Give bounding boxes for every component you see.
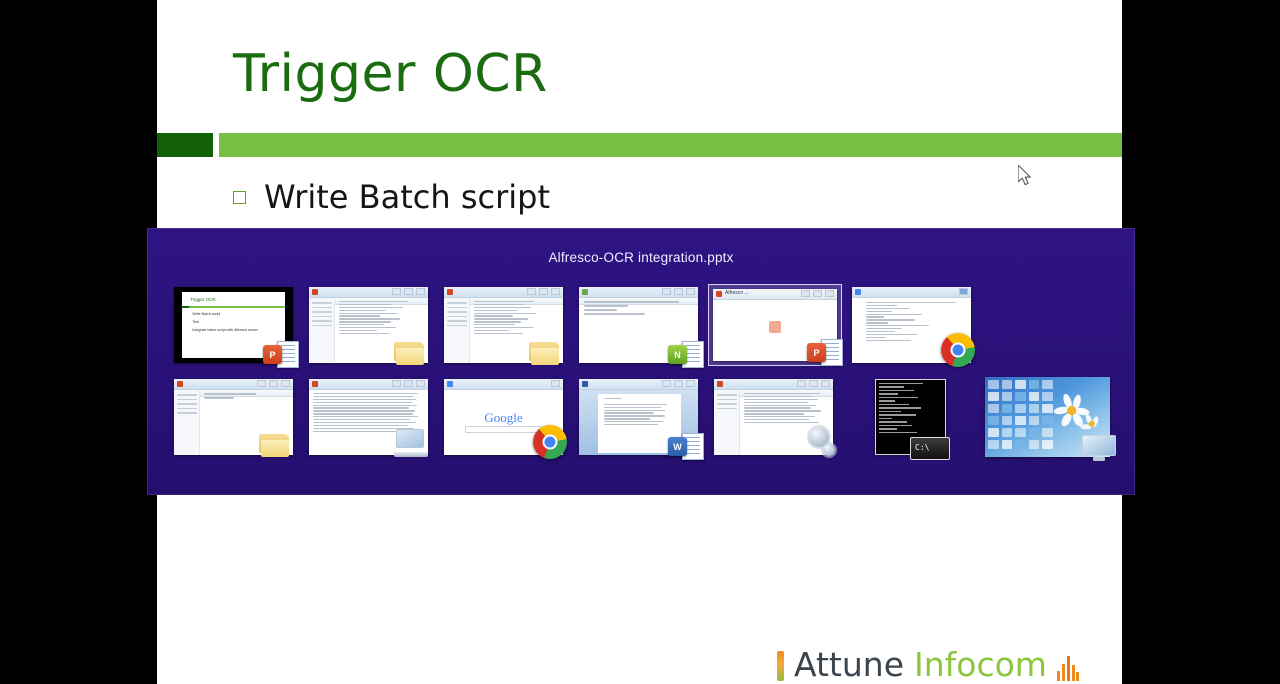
chrome-icon <box>533 425 567 459</box>
bullet-item-label: Write Batch script <box>264 178 550 216</box>
folder-icon <box>529 339 561 365</box>
daisy-wallpaper-icon <box>1045 390 1103 441</box>
slide-preview-title: Trigger OCR <box>190 297 215 302</box>
slide-preview-rule <box>182 306 284 309</box>
window-title-bar <box>174 379 293 390</box>
thumbnail-google-search-page[interactable]: Google <box>444 379 563 455</box>
page-title: Trigger OCR <box>233 44 548 104</box>
thumbnail-desktop-preview[interactable] <box>985 377 1110 457</box>
window-title-bar <box>852 287 971 298</box>
google-search-box <box>465 426 541 433</box>
title-rule-dark <box>157 133 213 157</box>
thumbnail-powerpoint-slide-preview[interactable]: Trigger OCR Write Batch script Test Inte… <box>174 287 293 363</box>
window-title-bar: Alfresco ... <box>713 289 837 300</box>
powerpoint-document-icon: P <box>263 336 299 368</box>
window-title-bar <box>309 379 428 390</box>
thumbnail-row: Trigger OCR Write Batch script Test Inte… <box>147 284 1135 366</box>
monitor-icon <box>1082 435 1116 461</box>
arrow-cursor <box>1018 165 1036 189</box>
square-outline-icon <box>233 191 246 204</box>
thumbnail-file-listing-window[interactable] <box>714 379 833 455</box>
title-rule-light <box>219 133 1122 157</box>
flyout-title: Alfresco-OCR integration.pptx <box>147 250 1135 265</box>
thumbnail-row: Google <box>147 376 1135 458</box>
desktop-icons <box>988 380 1053 449</box>
chrome-icon <box>941 333 975 367</box>
thumbnail-file-explorer-window[interactable] <box>309 287 428 363</box>
window-title-bar <box>444 287 563 298</box>
thumbnail-file-listing-window[interactable] <box>309 379 428 455</box>
bullet-item-write-batch-script: Write Batch script <box>233 178 550 216</box>
thumbnail-powerpoint-window-selected[interactable]: Alfresco ... P <box>708 284 842 366</box>
screen: Trigger OCR Write Batch script Attune In… <box>0 0 1280 684</box>
slide-preview-bullet: Integrate batch script with Alfresco ser… <box>192 328 258 332</box>
slide-preview-bullet: Write Batch script <box>192 312 220 316</box>
notepad-plus-plus-icon: N <box>668 336 704 368</box>
folder-icon <box>259 431 291 457</box>
command-prompt-label: C:\ <box>911 438 949 452</box>
command-prompt-icon: C:\ <box>910 437 950 460</box>
thumbnail-file-explorer-window[interactable] <box>444 287 563 363</box>
logo-bar-icon <box>777 651 784 681</box>
google-wordmark: Google <box>484 410 522 426</box>
window-title-bar <box>309 287 428 298</box>
window-title-bar <box>579 379 698 390</box>
folder-icon <box>394 339 426 365</box>
thumbnail-file-explorer-window[interactable] <box>174 379 293 455</box>
slide-preview-bullet: Test <box>192 320 199 324</box>
thumbnail-word-document-window[interactable]: W <box>579 379 698 455</box>
window-title-bar <box>714 379 833 390</box>
thumbnail-chrome-browser-window[interactable] <box>852 287 971 363</box>
window-title-bar <box>579 287 698 298</box>
window-title-label: Alfresco ... <box>725 290 749 296</box>
thumbnail-notepad-plus-plus-window[interactable]: N <box>579 287 698 363</box>
powerpoint-document-icon: P <box>807 334 843 366</box>
gear-icon <box>803 425 835 457</box>
thumbnail-command-prompt-window[interactable]: C:\ <box>875 379 946 455</box>
window-title-bar <box>444 379 563 390</box>
taskbar-thumbnail-flyout[interactable]: Alfresco-OCR integration.pptx Trigger OC… <box>147 228 1135 495</box>
computer-icon <box>394 429 428 457</box>
logo-spikes-icon <box>1057 653 1079 681</box>
word-document-icon: W <box>668 428 704 460</box>
logo-word-attune: Attune <box>794 645 904 684</box>
company-logo: Attune Infocom <box>777 645 1079 684</box>
logo-word-infocom: Infocom <box>914 645 1047 684</box>
